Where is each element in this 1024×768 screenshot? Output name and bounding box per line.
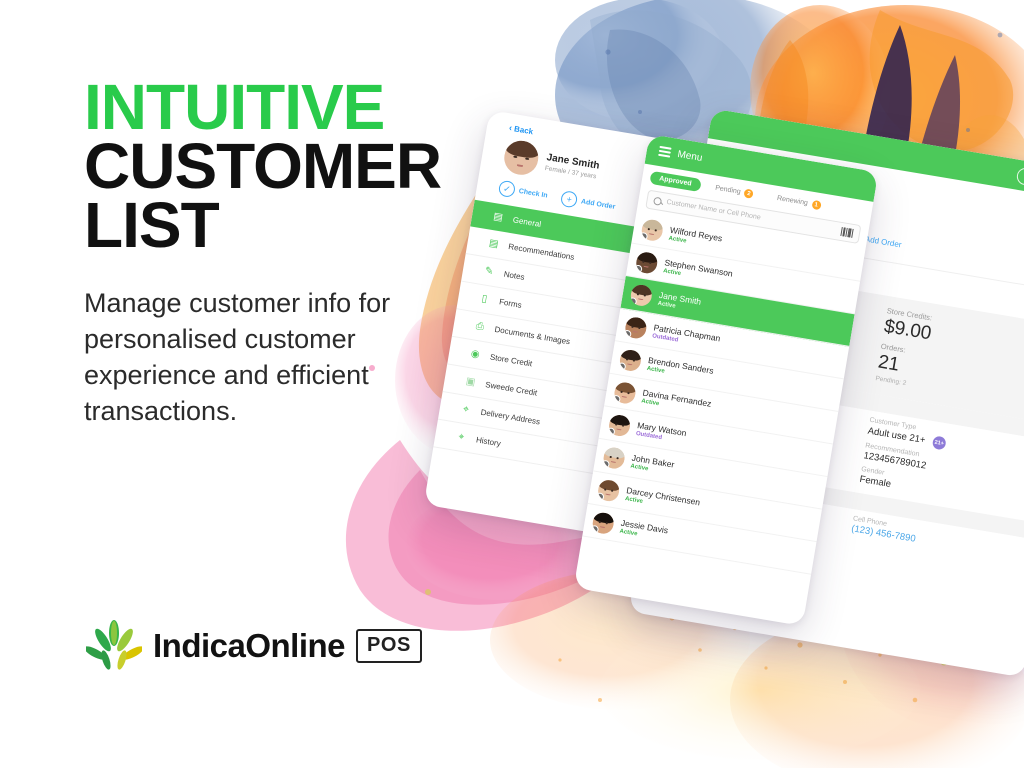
avatar [635,250,659,274]
chevron-left-icon: ‹ [508,122,513,132]
map-pin-icon: ⌖ [454,430,468,444]
tab-label: Renewing [776,195,808,207]
tab-label: Approved [659,175,692,187]
add-order-button[interactable]: + Add Order [560,190,617,215]
avatar [613,380,637,404]
headline-line-2: CUSTOMER [84,137,504,196]
avatar [597,478,621,502]
brand-name: IndicaOnline [153,627,345,665]
search-icon [653,196,662,205]
brand-logo: IndicaOnline POS [86,620,422,672]
barcode-scan-icon[interactable] [841,227,854,238]
add-order-label: Add Order [864,234,902,249]
tab-approved[interactable]: Approved [649,171,701,192]
cannabis-leaf-icon [86,620,142,672]
pending-count-badge: 2 [744,189,754,199]
menu-label: Menu [677,148,703,163]
avatar [502,138,541,177]
avatar [624,315,648,339]
avatar [629,283,653,307]
pos-badge: POS [356,629,422,663]
renewing-count-badge: 1 [811,200,821,210]
avatar [591,511,615,535]
sidebar-item-label: General [512,215,542,229]
avatar [608,413,632,437]
page-title: INTUITIVE CUSTOMER LIST [84,78,504,255]
marketing-subcopy: Manage customer info for personalised cu… [84,285,414,430]
avatar [640,218,664,242]
tab-label: Pending [715,185,742,196]
sidebar-item-label: History [475,435,501,448]
headline-line-3: LIST [84,196,504,255]
marketing-copy: INTUITIVE CUSTOMER LIST Manage customer … [84,78,504,429]
hamburger-menu-icon[interactable] [658,146,671,158]
plus-icon: + [560,190,578,208]
add-order-label: Add Order [581,198,616,211]
headline-line-1: INTUITIVE [84,78,504,137]
sidebar-item-label: Notes [503,270,525,282]
back-label: Back [513,124,533,136]
check-in-label: Check In [518,187,548,199]
sidebar-item-label: Documents & Images [494,325,571,347]
sidebar-item-label: Recommendations [508,242,575,262]
check-in-button[interactable]: ✓ Check In [498,180,549,204]
age-21-plus-badge: 21+ [932,435,947,450]
avatar [602,446,626,470]
avatar [618,348,642,372]
